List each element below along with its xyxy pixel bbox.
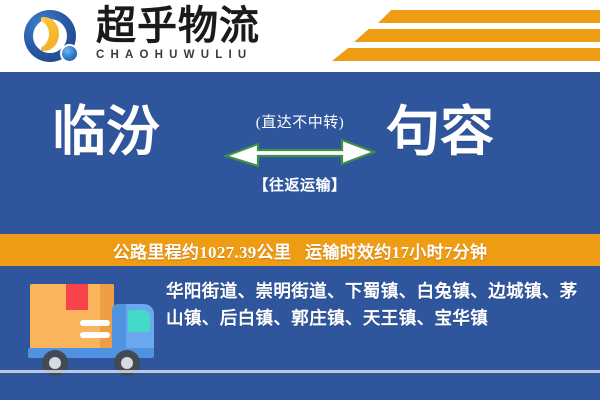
route-section: 临汾 (直达不中转) 【往返运输】 句容 bbox=[0, 76, 600, 228]
destination-city: 句容 bbox=[386, 102, 494, 162]
delivery-truck-icon bbox=[28, 278, 162, 374]
route-middle-block: (直达不中转) 【往返运输】 bbox=[218, 114, 382, 214]
route-note-top: (直达不中转) bbox=[218, 114, 382, 132]
truck-cargo-stripe-2 bbox=[80, 332, 110, 338]
bidirectional-arrow-icon bbox=[224, 138, 376, 170]
truck-hub-front bbox=[121, 357, 133, 369]
truck-window bbox=[128, 310, 150, 332]
logo-accent-dot-shape bbox=[60, 44, 79, 63]
stripe-3 bbox=[332, 48, 600, 61]
stripe-1 bbox=[378, 10, 600, 23]
route-info-bar: 公路里程约1027.39公里 运输时效约17小时7分钟 bbox=[0, 234, 600, 266]
bidirectional-arrow-svg bbox=[224, 138, 376, 170]
header-stripe-decoration bbox=[330, 8, 600, 66]
logistics-route-banner: 超乎物流 CHAOHUWULIU 临汾 (直达不中转) 【往返运输】 句容 公路… bbox=[0, 0, 600, 400]
route-note-bottom: 【往返运输】 bbox=[218, 177, 382, 195]
brand-name-en: CHAOHUWULIU bbox=[96, 49, 260, 61]
origin-city: 临汾 bbox=[52, 102, 160, 162]
banner-header: 超乎物流 CHAOHUWULIU bbox=[0, 0, 600, 72]
duration-text: 运输时效约17小时7分钟 bbox=[305, 238, 487, 263]
company-logo-icon bbox=[24, 10, 90, 64]
truck-hub-rear bbox=[49, 357, 61, 369]
bottom-divider bbox=[0, 370, 600, 373]
stripe-2 bbox=[354, 29, 600, 42]
coverage-areas-text: 华阳街道、崇明街道、下蜀镇、白兔镇、边城镇、茅山镇、后白镇、郭庄镇、天王镇、宝华… bbox=[166, 278, 578, 332]
brand-block: 超乎物流 CHAOHUWULIU bbox=[96, 4, 260, 61]
truck-cargo-stripe-1 bbox=[80, 320, 110, 326]
brand-name-cn: 超乎物流 bbox=[96, 4, 260, 48]
coverage-section: 华阳街道、崇明街道、下蜀镇、白兔镇、边城镇、茅山镇、后白镇、郭庄镇、天王镇、宝华… bbox=[0, 266, 600, 400]
distance-text: 公路里程约1027.39公里 bbox=[113, 238, 291, 263]
truck-cargo-label bbox=[66, 284, 88, 310]
truck-cab-shade bbox=[112, 304, 126, 350]
